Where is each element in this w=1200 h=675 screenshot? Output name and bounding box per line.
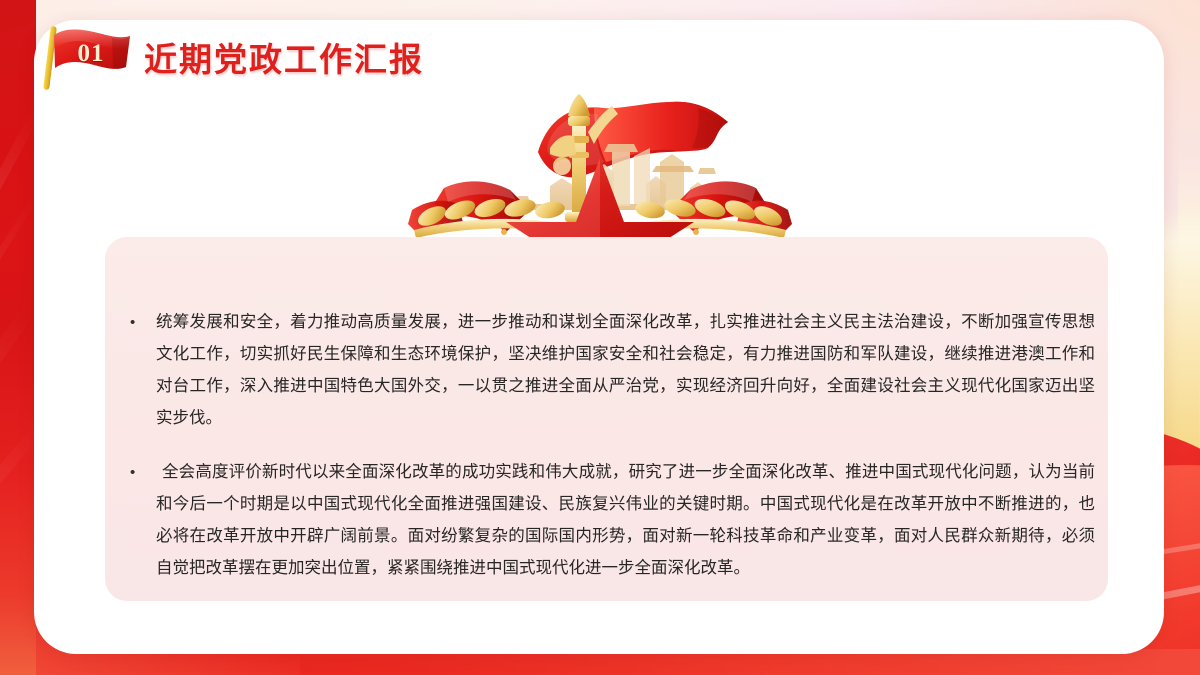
- bullet-dot-icon: •: [130, 306, 156, 434]
- page-title: 近期党政工作汇报: [144, 33, 424, 81]
- section-number: 01: [68, 40, 114, 68]
- list-item: • 统筹发展和安全，着力推动高质量发展，进一步推动和谋划全面深化改革，扎实推进社…: [130, 306, 1095, 434]
- list-item: • 全会高度评价新时代以来全面深化改革的成功实践和伟大成就，研究了进一步全面深化…: [130, 456, 1095, 584]
- list-item-text: 全会高度评价新时代以来全面深化改革的成功实践和伟大成就，研究了进一步全面深化改革…: [156, 456, 1095, 584]
- slide-header: 01 近期党政工作汇报: [38, 22, 424, 92]
- slide-root: 01 近期党政工作汇报: [0, 0, 1200, 675]
- left-red-band: [0, 0, 36, 675]
- left-band-streak-3: [0, 302, 36, 441]
- bullet-list: • 统筹发展和安全，着力推动高质量发展，进一步推动和谋划全面深化改革，扎实推进社…: [130, 306, 1095, 606]
- section-number-flag-badge: 01: [38, 24, 134, 90]
- list-item-text: 统筹发展和安全，着力推动高质量发展，进一步推动和谋划全面深化改革，扎实推进社会主…: [156, 306, 1095, 434]
- left-band-streak-4: [0, 420, 36, 550]
- bullet-dot-icon: •: [130, 456, 156, 584]
